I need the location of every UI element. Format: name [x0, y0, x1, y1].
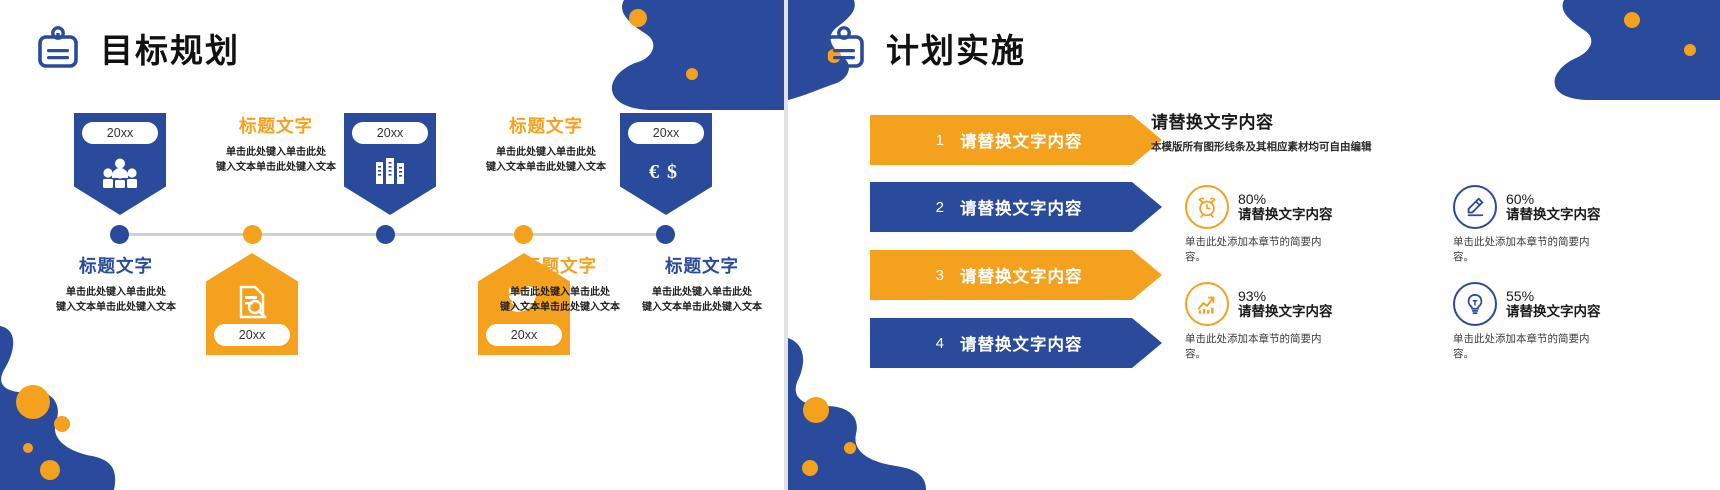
stat-texts-2: 60% 请替换文字内容 — [1506, 191, 1601, 224]
stat-block-3: 93% 请替换文字内容 单击此处添加本章节的简要内容。 — [1185, 282, 1357, 362]
timeline-banner-1[interactable]: 20xx — [74, 113, 166, 215]
right-header: 计划实施 — [822, 24, 1026, 72]
stat-head-4: 55% 请替换文字内容 — [1453, 282, 1625, 326]
timeline-line-3a: 单击此处键入单击此处 — [456, 145, 636, 160]
stat-desc-4: 单击此处添加本章节的简要内容。 — [1453, 332, 1603, 362]
stat-percent-2: 60% — [1506, 191, 1601, 207]
decorative-blob-top-right — [564, 0, 784, 110]
stat-title-2: 请替换文字内容 — [1506, 207, 1601, 224]
timeline-dot-3 — [376, 225, 395, 244]
timeline-text-2: 标题文字 单击此处键入单击此处 键入文本单击此处键入文本 — [26, 253, 206, 315]
decorative-blob-bottom-left — [0, 290, 230, 490]
people-group-icon — [74, 158, 166, 188]
arrow-row-3[interactable]: 3 请替换文字内容 — [870, 250, 1162, 300]
stat-head-1: 80% 请替换文字内容 — [1185, 185, 1357, 229]
arrow-row-2[interactable]: 2 请替换文字内容 — [870, 182, 1162, 232]
timeline-title-2: 标题文字 — [26, 253, 206, 278]
arrow-number-3: 3 — [870, 267, 960, 284]
arrow-number-2: 2 — [870, 199, 960, 216]
timeline-line-5a: 单击此处键入单击此处 — [470, 285, 650, 300]
timeline-dot-2 — [243, 225, 262, 244]
timeline-line-3b: 键入文本单击此处键入文本 — [456, 160, 636, 175]
timeline-banner-2[interactable]: 20xx — [206, 253, 298, 355]
stat-head-2: 60% 请替换文字内容 — [1453, 185, 1625, 229]
timeline-year-4: 20xx — [486, 324, 562, 346]
timeline-title-5: 标题文字 — [470, 253, 650, 278]
stat-block-2: 60% 请替换文字内容 单击此处添加本章节的简要内容。 — [1453, 185, 1625, 265]
svg-text:$: $ — [667, 161, 677, 183]
money-exchange-icon: € $ — [620, 158, 712, 184]
stat-block-1: 80% 请替换文字内容 单击此处添加本章节的简要内容。 — [1185, 185, 1357, 265]
stat-head-3: 93% 请替换文字内容 — [1185, 282, 1357, 326]
timeline-banner-3[interactable]: 20xx — [344, 113, 436, 215]
decorative-blob-right-topright — [1520, 0, 1720, 100]
alarm-clock-icon — [1185, 185, 1229, 229]
timeline-text-1: 标题文字 单击此处键入单击此处 键入文本单击此处键入文本 — [186, 113, 366, 175]
stat-desc-1: 单击此处添加本章节的简要内容。 — [1185, 235, 1335, 265]
lead-subtitle: 本模版所有图形线条及其相应素材均可自由编辑 — [1151, 139, 1451, 154]
arrow-number-1: 1 — [870, 132, 960, 149]
stat-desc-3: 单击此处添加本章节的简要内容。 — [1185, 332, 1335, 362]
stat-texts-1: 80% 请替换文字内容 — [1238, 191, 1333, 224]
document-search-icon — [206, 285, 298, 319]
lightbulb-icon — [1453, 282, 1497, 326]
timeline-line-1b: 键入文本单击此处键入文本 — [186, 160, 366, 175]
timeline-line-5b: 键入文本单击此处键入文本 — [470, 300, 650, 315]
growth-chart-icon — [1185, 282, 1229, 326]
stat-title-3: 请替换文字内容 — [1238, 304, 1333, 321]
timeline-dot-4 — [514, 225, 533, 244]
timeline-year-5: 20xx — [628, 122, 704, 144]
timeline-year-2: 20xx — [214, 324, 290, 346]
stat-texts-3: 93% 请替换文字内容 — [1238, 288, 1333, 321]
timeline-title-1: 标题文字 — [186, 113, 366, 138]
arrow-row-4[interactable]: 4 请替换文字内容 — [870, 318, 1162, 368]
timeline-year-1: 20xx — [82, 122, 158, 144]
id-badge-icon — [822, 24, 866, 72]
arrow-label-1: 请替换文字内容 — [960, 128, 1083, 152]
timeline-line-1a: 单击此处键入单击此处 — [186, 145, 366, 160]
svg-text:€: € — [649, 161, 659, 183]
pen-write-icon — [1453, 185, 1497, 229]
timeline-banner-5[interactable]: 20xx € $ — [620, 113, 712, 215]
timeline-text-5: 标题文字 单击此处键入单击此处 键入文本单击此处键入文本 — [470, 253, 650, 315]
timeline-text-3: 标题文字 单击此处键入单击此处 键入文本单击此处键入文本 — [456, 113, 636, 175]
stat-percent-4: 55% — [1506, 288, 1601, 304]
stat-title-4: 请替换文字内容 — [1506, 304, 1601, 321]
arrow-label-4: 请替换文字内容 — [960, 331, 1083, 355]
page-title: 目标规划 — [100, 24, 240, 72]
arrow-label-3: 请替换文字内容 — [960, 263, 1083, 287]
buildings-icon — [344, 158, 436, 184]
stat-desc-2: 单击此处添加本章节的简要内容。 — [1453, 235, 1603, 265]
left-header: 目标规划 — [36, 24, 240, 72]
page-title: 计划实施 — [886, 24, 1026, 72]
arrow-number-4: 4 — [870, 335, 960, 352]
stat-title-1: 请替换文字内容 — [1238, 207, 1333, 224]
timeline-dot-5 — [656, 225, 675, 244]
arrow-label-2: 请替换文字内容 — [960, 195, 1083, 219]
timeline-title-3: 标题文字 — [456, 113, 636, 138]
stat-percent-3: 93% — [1238, 288, 1333, 304]
arrow-row-1[interactable]: 1 请替换文字内容 — [870, 115, 1162, 165]
timeline-line-2b: 键入文本单击此处键入文本 — [26, 300, 206, 315]
timeline-dot-1 — [110, 225, 129, 244]
timeline-year-3: 20xx — [352, 122, 428, 144]
lead-block: 请替换文字内容 本模版所有图形线条及其相应素材均可自由编辑 — [1151, 108, 1451, 154]
slide-goal-planning: 目标规划 20xx 标题文字 单击此处键入单击此处 键入文本单击此处键入文本 2… — [0, 0, 784, 490]
id-badge-icon — [36, 24, 80, 72]
stat-percent-1: 80% — [1238, 191, 1333, 207]
stat-block-4: 55% 请替换文字内容 单击此处添加本章节的简要内容。 — [1453, 282, 1625, 362]
timeline-line-2a: 单击此处键入单击此处 — [26, 285, 206, 300]
lead-title: 请替换文字内容 — [1151, 108, 1451, 133]
stat-texts-4: 55% 请替换文字内容 — [1506, 288, 1601, 321]
